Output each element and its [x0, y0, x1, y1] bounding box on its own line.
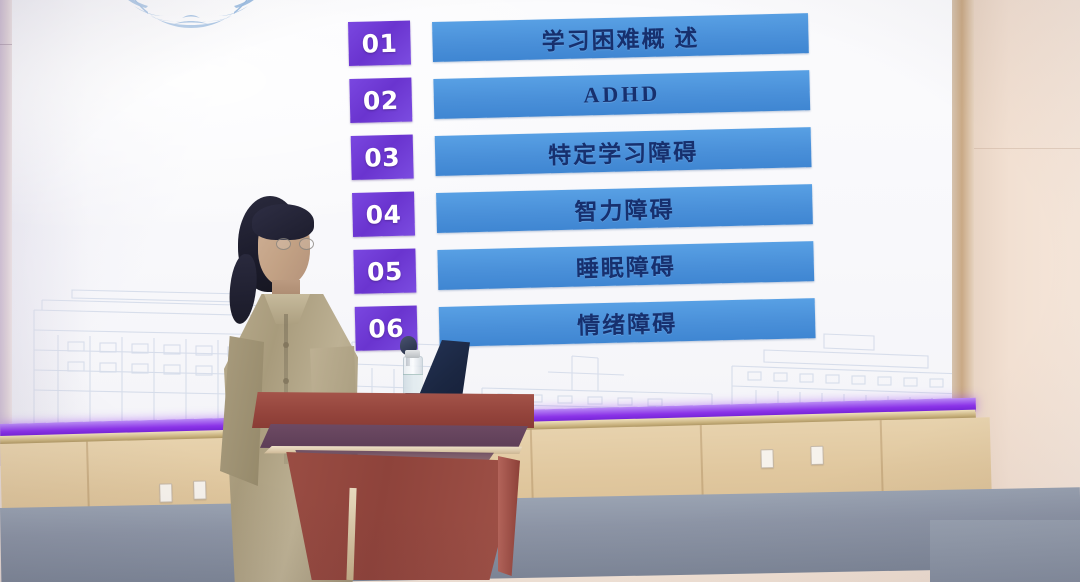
- wall-switch-icon[interactable]: [193, 480, 207, 499]
- left-wall-edge: [0, 0, 12, 466]
- podium-edge: [498, 456, 520, 576]
- agenda-row: 02 ADHD: [349, 68, 810, 123]
- agenda-bar: 睡眠障碍: [437, 241, 814, 290]
- agenda-label: ADHD: [583, 81, 660, 109]
- agenda-row: 04 智力障碍: [352, 182, 813, 237]
- slide-agenda-list: 01 学习困难概 述 02 ADHD 03 特定学习障碍: [348, 11, 816, 362]
- hair-front: [252, 204, 314, 240]
- glasses-icon: [276, 238, 314, 250]
- agenda-number: 03: [364, 142, 400, 172]
- agenda-bar: 情绪障碍: [439, 298, 816, 347]
- agenda-number: 02: [363, 85, 399, 115]
- agenda-bar: ADHD: [433, 70, 810, 119]
- agenda-bar: 学习困难概 述: [432, 13, 809, 62]
- agenda-bar: 智力障碍: [436, 184, 813, 233]
- agenda-number-badge: 02: [349, 78, 412, 123]
- agenda-number-badge: 03: [351, 135, 414, 180]
- laurel-wreath-logo: [78, 0, 304, 46]
- button: [283, 342, 289, 348]
- agenda-number-badge: 01: [348, 21, 411, 66]
- agenda-number: 04: [365, 199, 401, 229]
- bottle-cap: [405, 350, 420, 358]
- floor-carpet-right: [930, 520, 1080, 582]
- agenda-label: 学习困难概 述: [541, 19, 700, 57]
- agenda-row: 06 情绪障碍: [355, 296, 816, 351]
- agenda-label: 特定学习障碍: [548, 133, 699, 171]
- agenda-label: 智力障碍: [574, 190, 675, 226]
- projection-screen: 01 学习困难概 述 02 ADHD 03 特定学习障碍: [12, 0, 964, 448]
- podium-desktop: [252, 392, 534, 428]
- agenda-bar: 特定学习障碍: [435, 127, 812, 176]
- podium: [252, 392, 542, 582]
- button: [283, 378, 289, 384]
- wall-outlet-icon[interactable]: [760, 449, 774, 468]
- screen-frame-right: [952, 0, 974, 452]
- agenda-number: 05: [367, 256, 403, 286]
- wall-switch-icon[interactable]: [810, 446, 824, 465]
- agenda-row: 05 睡眠障碍: [353, 239, 814, 294]
- podium-body: [266, 452, 520, 580]
- agenda-row: 01 学习困难概 述: [348, 11, 809, 66]
- lecture-scene: 01 学习困难概 述 02 ADHD 03 特定学习障碍: [0, 0, 1080, 582]
- agenda-number: 01: [361, 28, 397, 58]
- agenda-number: 06: [368, 313, 404, 343]
- agenda-label: 睡眠障碍: [575, 247, 676, 283]
- agenda-row: 03 特定学习障碍: [351, 125, 812, 180]
- wall-outlet-icon[interactable]: [159, 483, 173, 502]
- agenda-label: 情绪障碍: [577, 304, 678, 340]
